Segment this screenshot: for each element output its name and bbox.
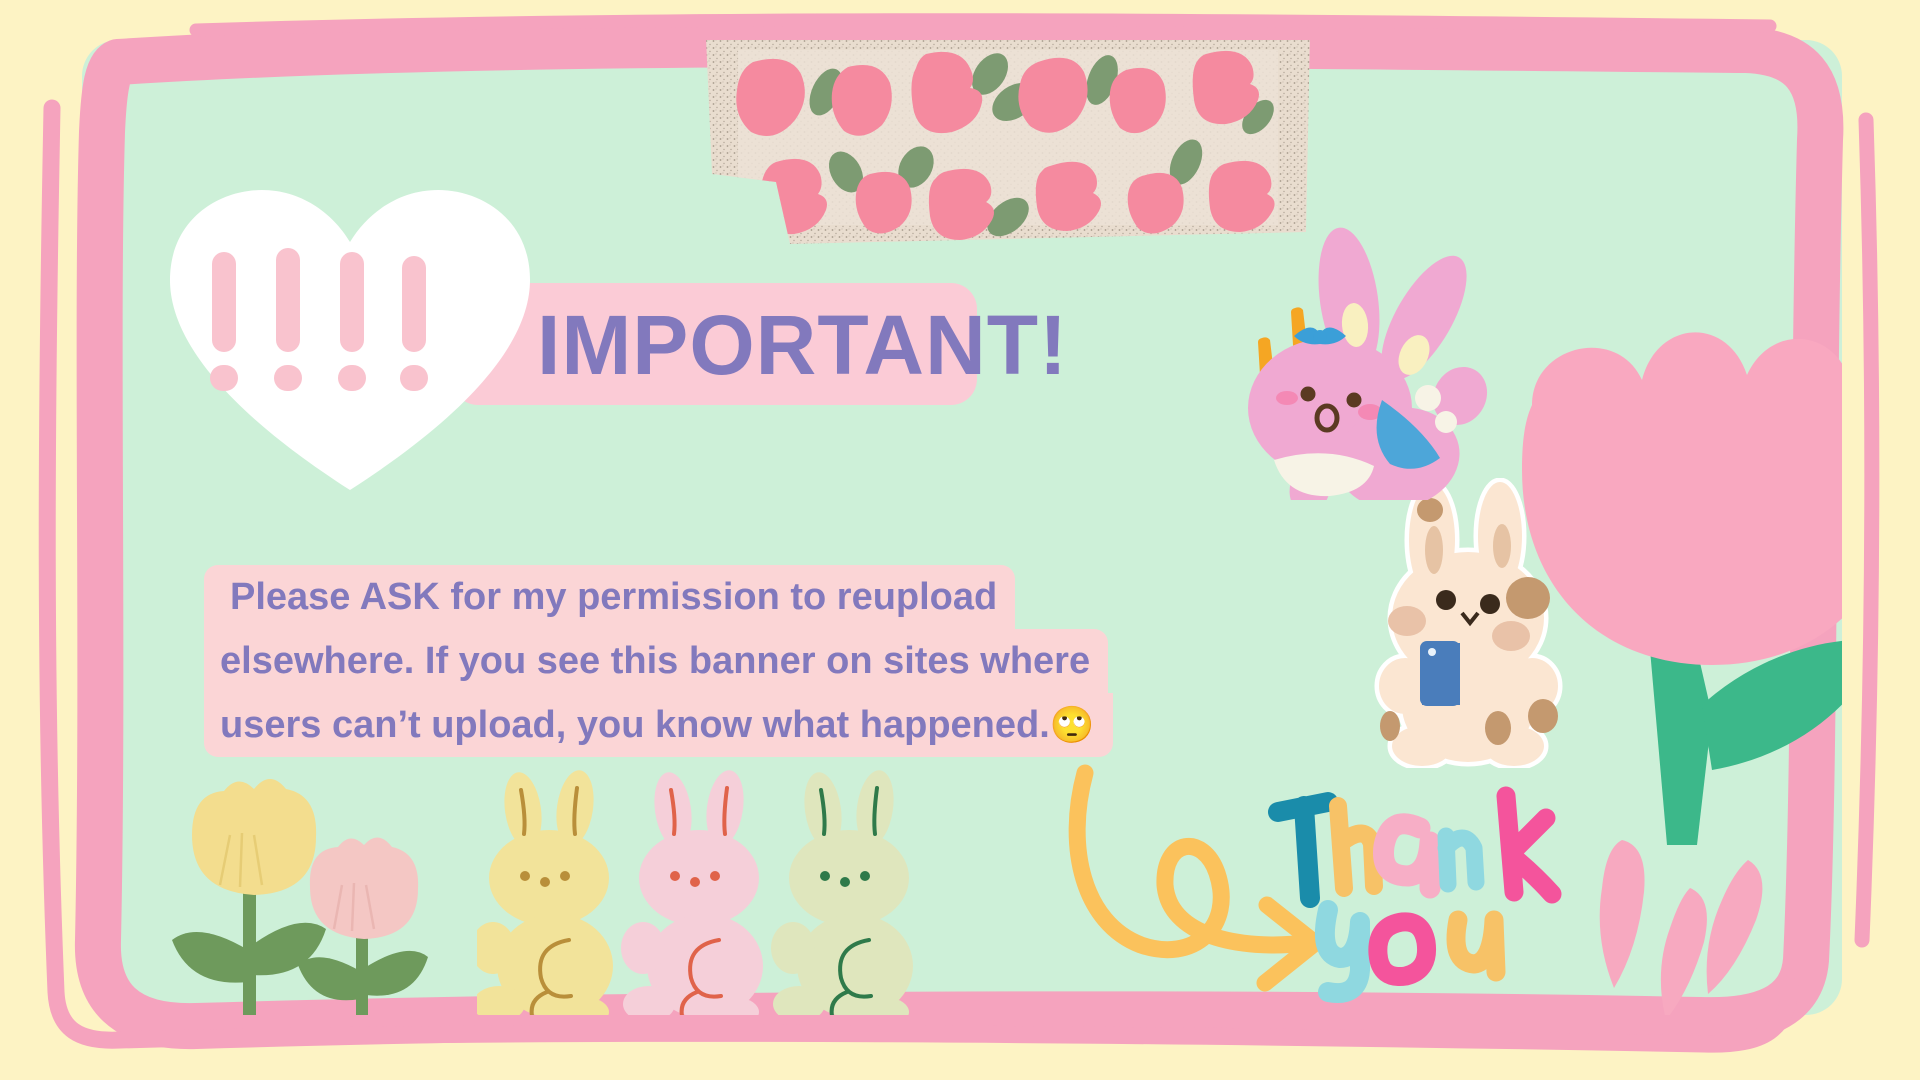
pink-bunny — [621, 770, 763, 1015]
banner-canvas: IMPORTANT! Please ASK for my permission … — [0, 0, 1920, 1080]
white-heart-with-exclamations-icon — [170, 190, 530, 500]
small-tulip-pair-icon — [170, 775, 460, 1015]
thank-you-lettering-icon — [1262, 780, 1592, 1010]
message-line-3-text: users can’t upload, you know what happen… — [220, 704, 1050, 746]
rolling-eyes-emoji: 🙄 — [1050, 704, 1095, 745]
notice-message: Please ASK for my permission to reupload… — [204, 565, 1113, 757]
painted-bunny-trio-icon — [477, 770, 997, 1015]
message-line-3: users can’t upload, you know what happen… — [204, 693, 1113, 757]
yellow-bunny — [477, 770, 613, 1015]
page-title: IMPORTANT! — [537, 295, 1068, 395]
cream-bunny-with-phone-icon — [1360, 478, 1590, 768]
message-line-1: Please ASK for my permission to reupload — [204, 565, 1015, 629]
message-line-2: elsewhere. If you see this banner on sit… — [204, 629, 1108, 693]
green-bunny — [771, 770, 913, 1015]
washi-tape-tulips-icon — [698, 40, 1318, 250]
falling-petals-icon — [1582, 830, 1802, 1015]
